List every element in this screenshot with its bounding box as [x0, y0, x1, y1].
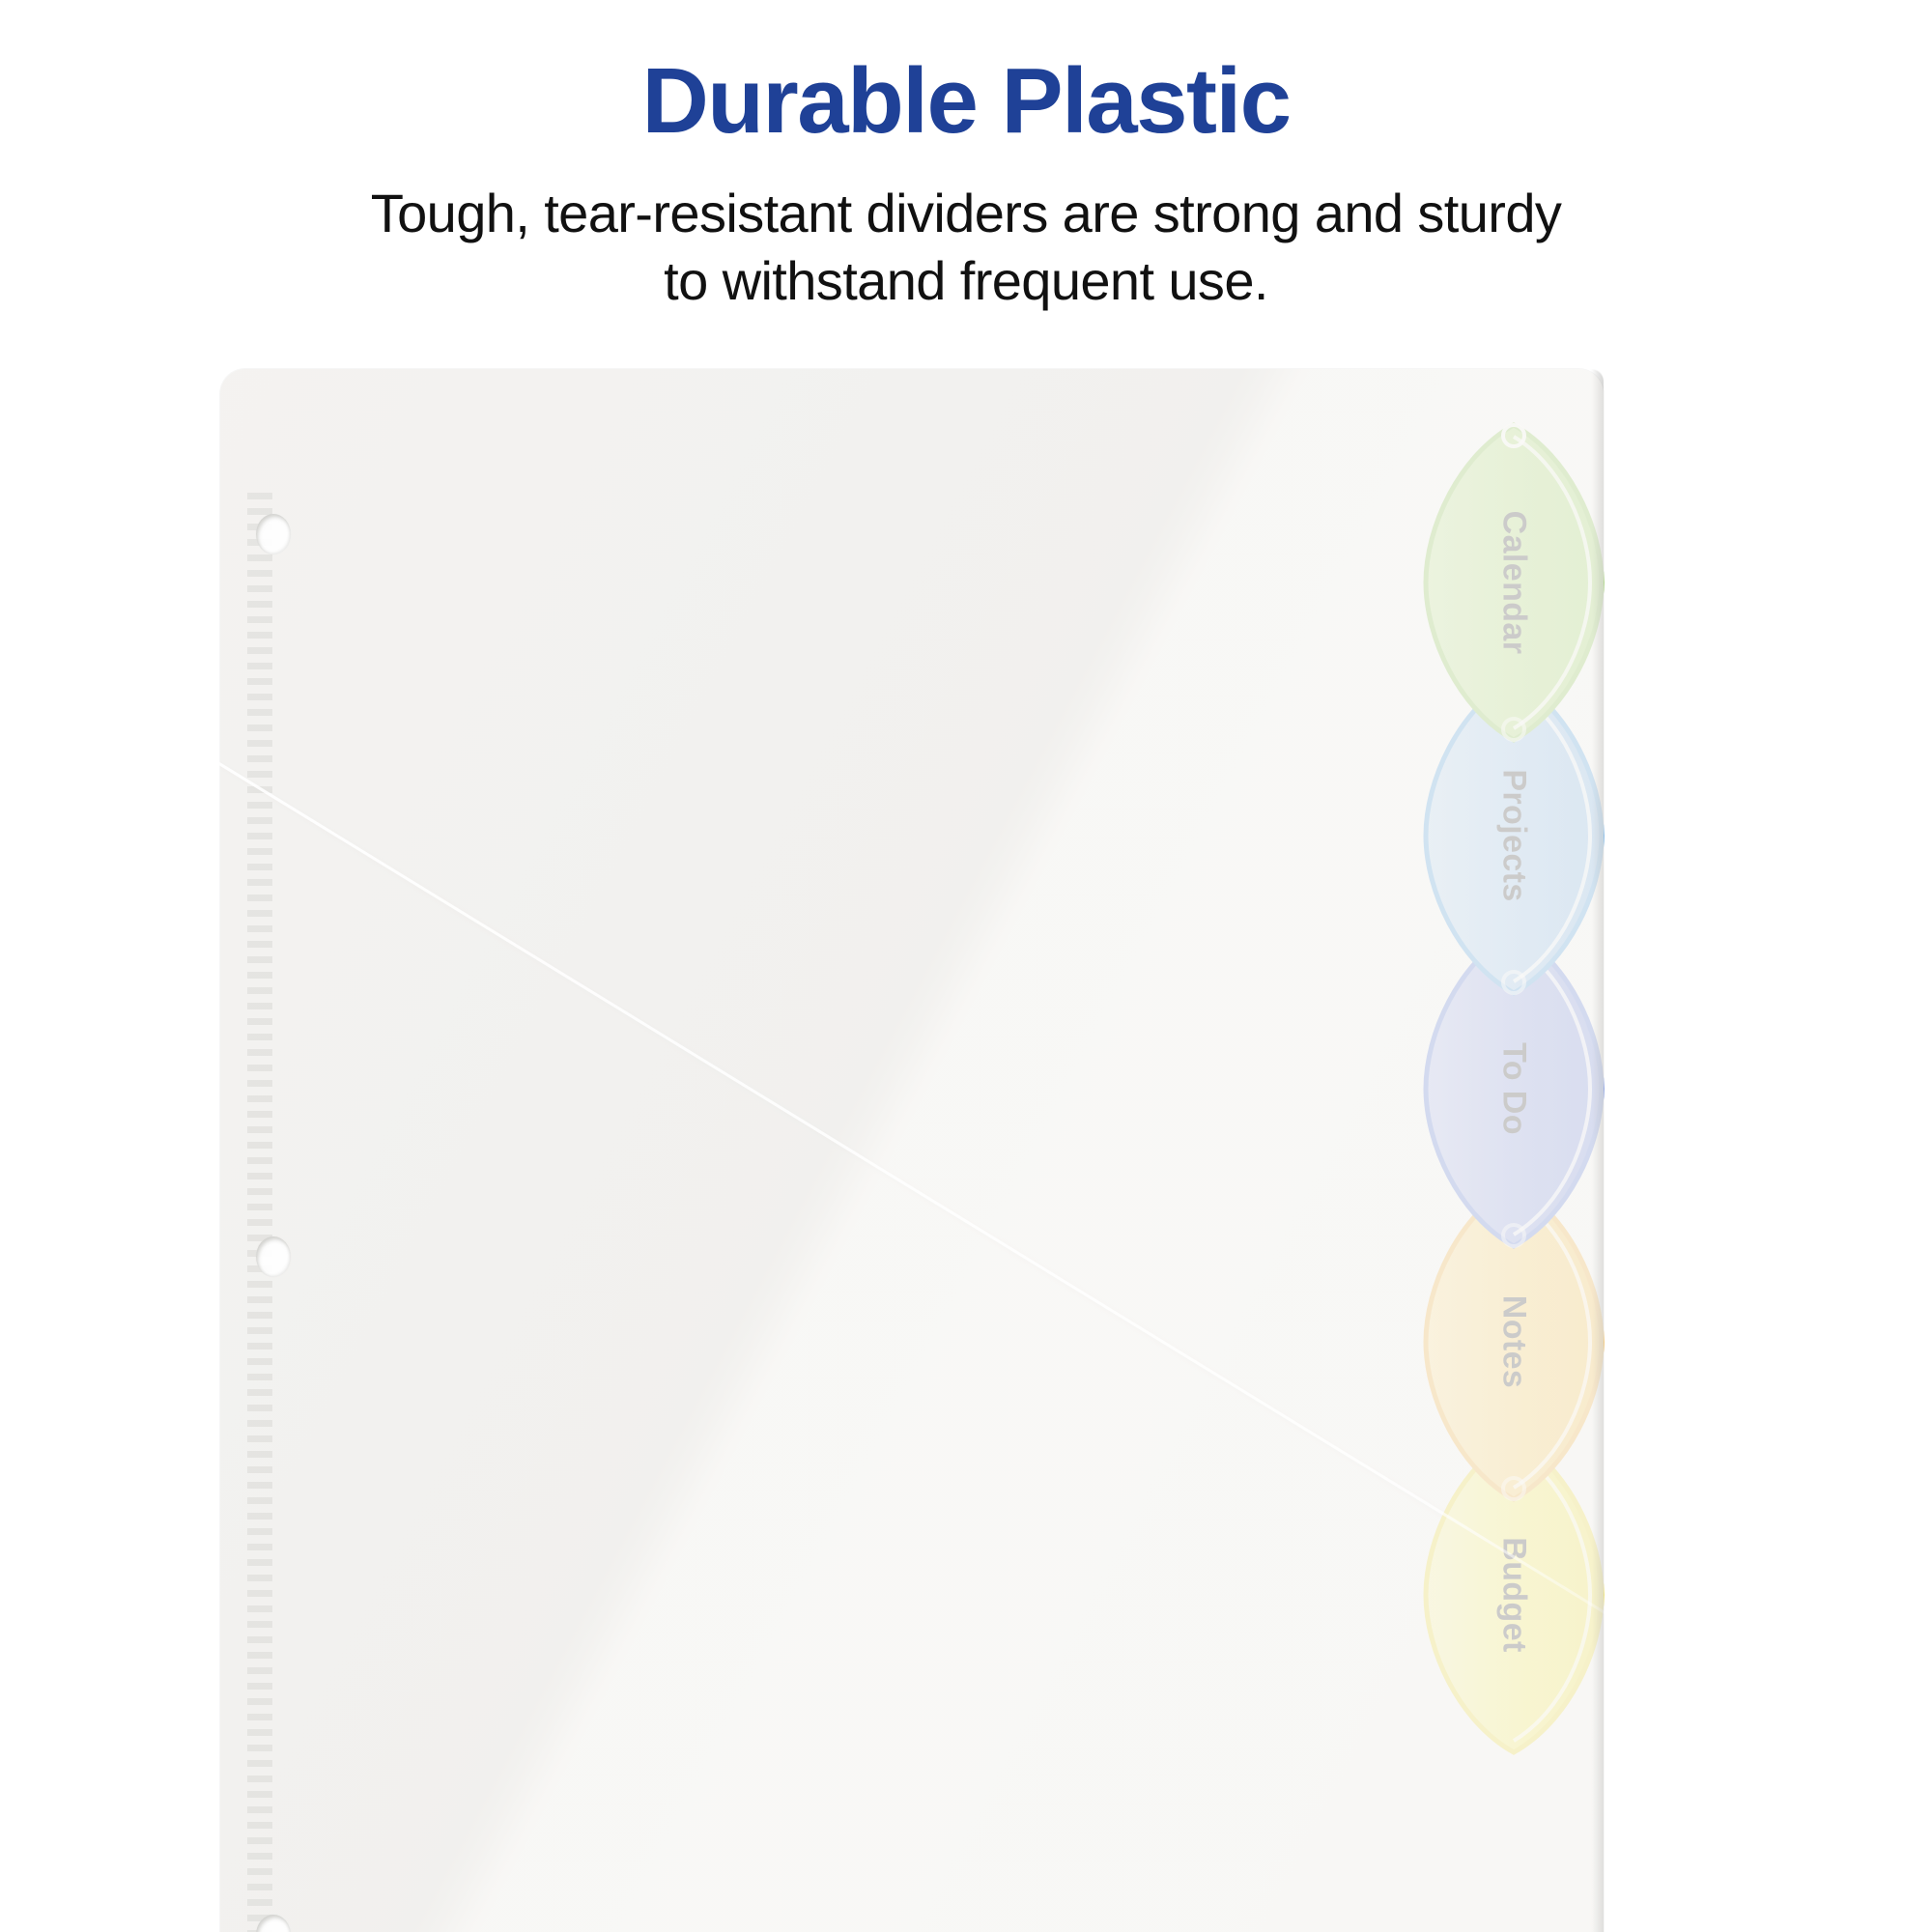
divider-sheet	[220, 369, 1604, 1932]
tab-label: Calendar	[1495, 511, 1533, 655]
page-title: Durable Plastic	[116, 53, 1816, 151]
product-photo: Calendar Projects	[0, 348, 1932, 1932]
product-feature-image: Durable Plastic Tough, tear-resistant di…	[0, 0, 1932, 1932]
subtitle-line-2: to withstand frequent use.	[116, 247, 1816, 316]
tab-label: Projects	[1495, 769, 1533, 901]
header-block: Durable Plastic Tough, tear-resistant di…	[0, 53, 1932, 316]
punch-hole	[256, 1236, 291, 1277]
binding-edge-texture	[247, 493, 272, 1932]
page-subtitle: Tough, tear-resistant dividers are stron…	[116, 180, 1816, 316]
tab-label: Notes	[1495, 1295, 1533, 1388]
tab-label: To Do	[1495, 1042, 1533, 1135]
subtitle-line-1: Tough, tear-resistant dividers are stron…	[371, 183, 1562, 243]
divider-tab-calendar[interactable]: Calendar	[1424, 423, 1604, 742]
punch-hole	[256, 514, 291, 554]
tab-label: Budget	[1495, 1537, 1533, 1653]
